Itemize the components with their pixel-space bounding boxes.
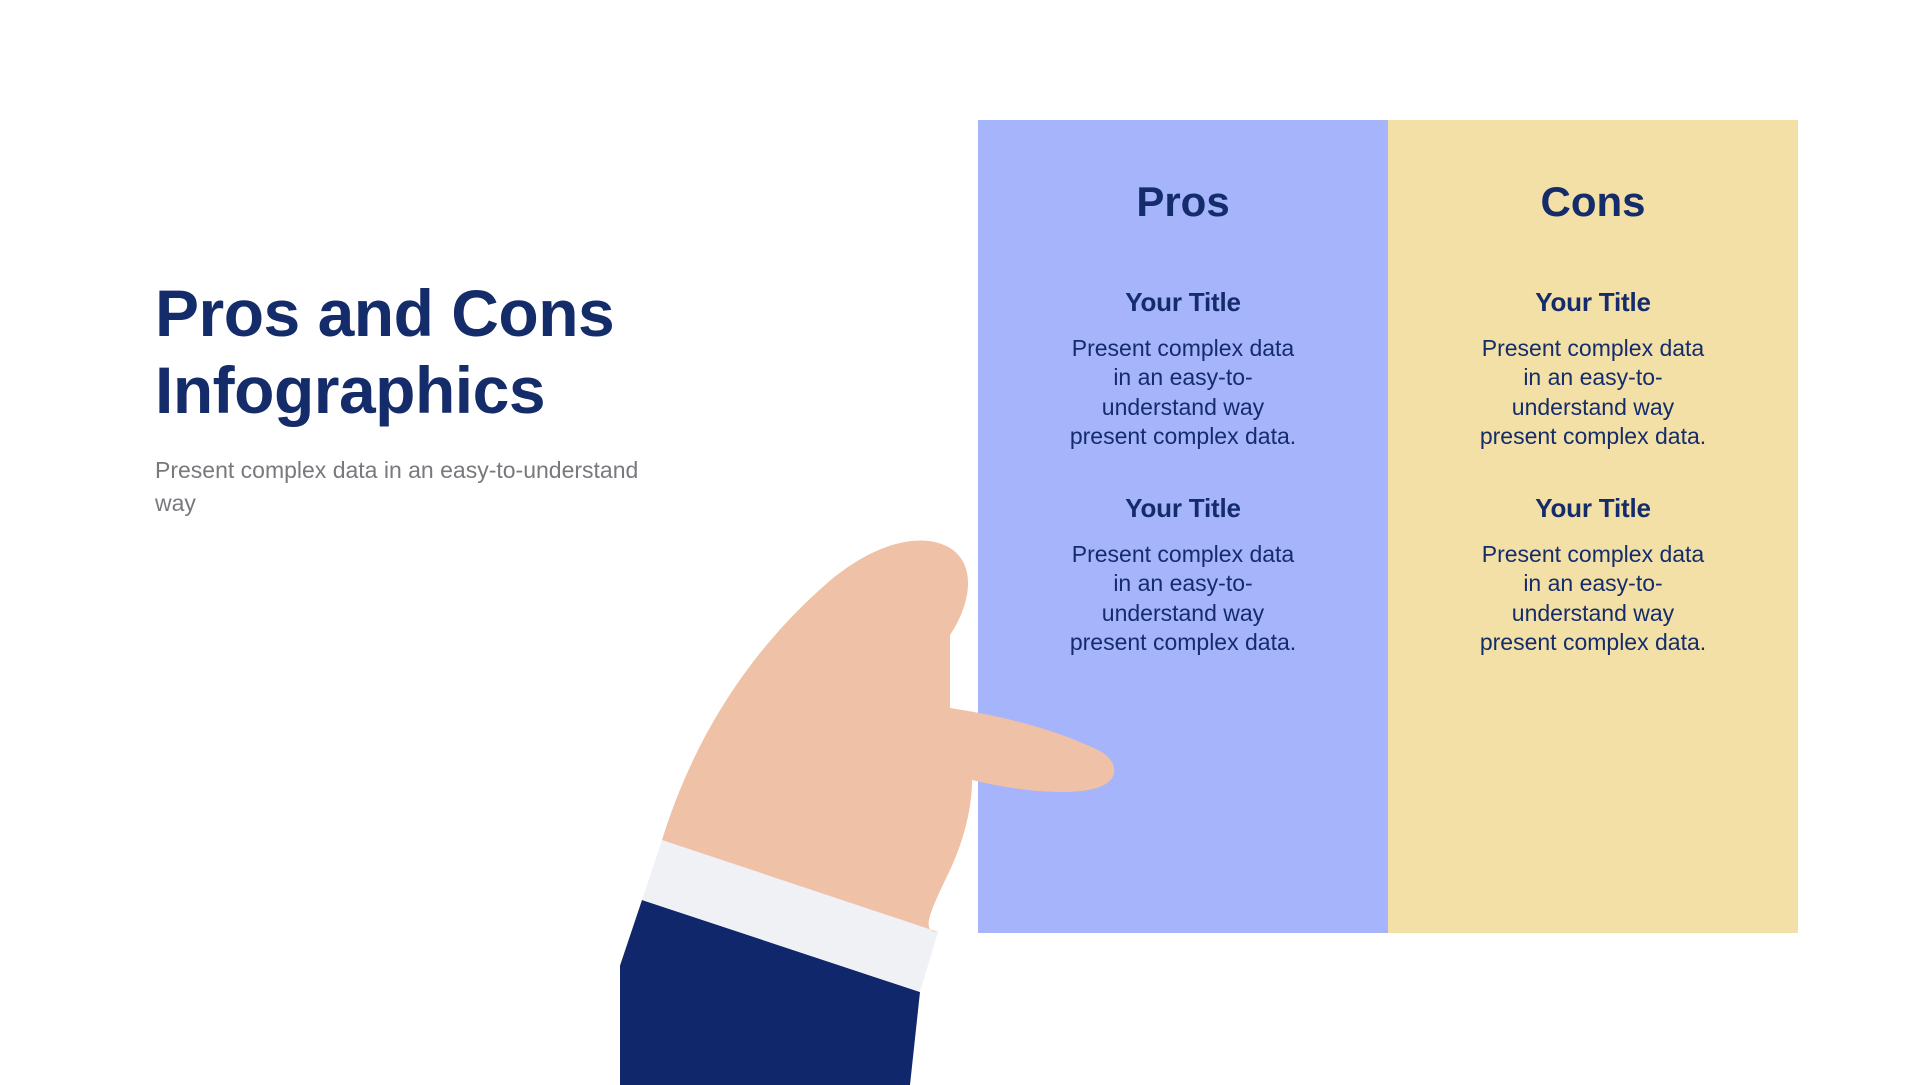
cons-entry-2-body: Present complex data in an easy-to-under… bbox=[1475, 540, 1711, 658]
cons-entry-1-body: Present complex data in an easy-to-under… bbox=[1475, 334, 1711, 452]
pros-entry-1-title: Your Title bbox=[1000, 287, 1366, 318]
page-subtitle: Present complex data in an easy-to-under… bbox=[155, 454, 665, 521]
suit-sleeve-shape bbox=[620, 900, 920, 1085]
pros-entry-2-body: Present complex data in an easy-to-under… bbox=[1065, 540, 1301, 658]
title-block: Pros and Cons Infographics Present compl… bbox=[155, 275, 795, 521]
cons-entry-2-title: Your Title bbox=[1410, 493, 1776, 524]
cons-column: Cons Your Title Present complex data in … bbox=[1388, 120, 1798, 933]
pros-column-heading: Pros bbox=[1000, 120, 1366, 226]
cons-entry-1: Your Title Present complex data in an ea… bbox=[1410, 287, 1776, 452]
slide-canvas: Pros and Cons Infographics Present compl… bbox=[0, 0, 1920, 1080]
pros-entry-2-title: Your Title bbox=[1000, 493, 1366, 524]
shirt-cuff-shape bbox=[642, 840, 938, 992]
cons-entry-1-title: Your Title bbox=[1410, 287, 1776, 318]
cons-column-heading: Cons bbox=[1410, 120, 1776, 226]
pros-entry-2: Your Title Present complex data in an ea… bbox=[1000, 493, 1366, 658]
pros-entry-1: Your Title Present complex data in an ea… bbox=[1000, 287, 1366, 452]
page-title: Pros and Cons Infographics bbox=[155, 275, 795, 428]
pros-column: Pros Your Title Present complex data in … bbox=[978, 120, 1388, 933]
pros-entry-1-body: Present complex data in an easy-to-under… bbox=[1065, 334, 1301, 452]
cons-entry-2: Your Title Present complex data in an ea… bbox=[1410, 493, 1776, 658]
comparison-panels: Pros Your Title Present complex data in … bbox=[978, 120, 1798, 933]
